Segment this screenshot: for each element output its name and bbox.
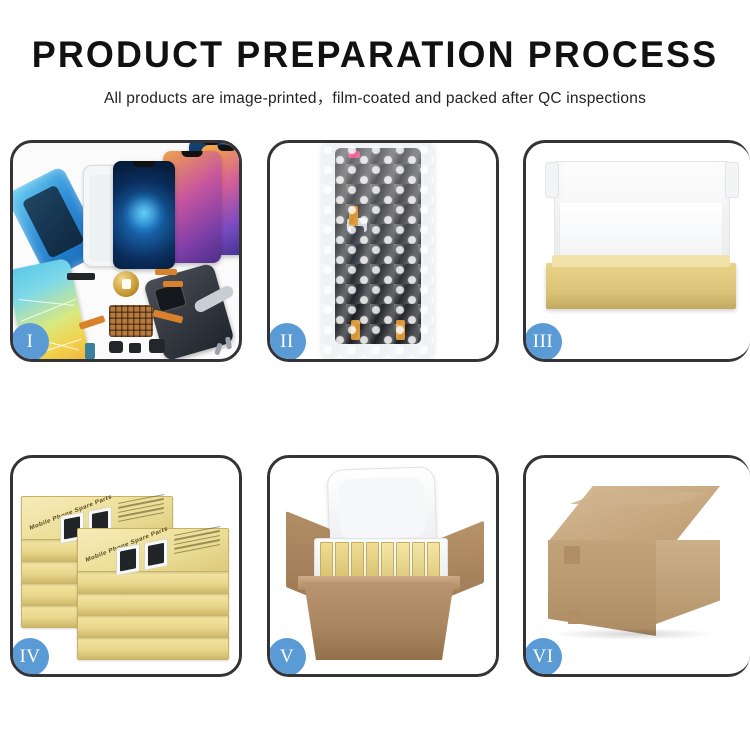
step-card-5[interactable]: V <box>267 455 499 677</box>
yellow-box-tray <box>546 263 736 309</box>
step-illustration-1 <box>13 143 239 359</box>
carton-shadow <box>552 628 716 640</box>
page-title: PRODUCT PREPARATION PROCESS <box>11 0 739 73</box>
step-badge-5: V <box>268 638 306 676</box>
box-spec-lines-back <box>118 494 164 529</box>
small-part-3 <box>129 343 141 353</box>
stacked-box-front-4 <box>77 614 229 638</box>
carton-tape-tab-2 <box>568 610 582 624</box>
small-part-1 <box>67 273 95 280</box>
box-thumbnail-4 <box>144 538 168 571</box>
step-card-6[interactable]: VI <box>523 455 750 677</box>
step-badge-2: II <box>268 323 306 361</box>
step-card-2[interactable]: II <box>267 140 499 362</box>
foam-sheet <box>560 203 722 259</box>
carton-tape-tab-1 <box>564 546 580 564</box>
speaker-coil-part <box>113 271 139 297</box>
stacked-box-front-3 <box>77 592 229 616</box>
step-badge-6: VI <box>524 638 562 676</box>
carton-body <box>304 582 454 660</box>
step-card-3[interactable]: III <box>523 140 750 362</box>
carton-side-face <box>656 540 720 624</box>
small-part-4 <box>149 339 165 353</box>
flex-cable-part-3 <box>155 269 177 275</box>
box-stack: Mobile Phone Spare Parts <box>21 472 237 672</box>
phone-screen-a <box>113 161 175 269</box>
bubble-wrap-pouch <box>322 144 434 358</box>
step-badge-3: III <box>524 323 562 361</box>
scene-carton-with-foam-box <box>270 458 496 674</box>
step-illustration-3 <box>526 143 750 359</box>
steps-row-top: I <box>0 140 750 362</box>
step-card-1[interactable]: I <box>10 140 242 362</box>
box-thumbnail-3 <box>116 544 140 577</box>
small-part-5 <box>85 343 95 359</box>
box-spec-lines-front <box>174 526 220 561</box>
scene-stacked-retail-boxes: Mobile Phone Spare Parts <box>13 458 239 674</box>
scene-bubble-wrapped-lcd <box>270 143 496 359</box>
step-illustration-6 <box>526 458 750 674</box>
stacked-box-front-top: Mobile Phone Spare Parts <box>77 528 229 572</box>
step-badge-1: I <box>11 323 49 361</box>
header: PRODUCT PREPARATION PROCESS All products… <box>0 0 750 108</box>
step-illustration-5 <box>270 458 496 674</box>
step-illustration-4: Mobile Phone Spare Parts <box>13 458 239 674</box>
scene-open-yellow-box <box>526 143 750 359</box>
step-badge-4: IV <box>11 638 49 676</box>
step-card-4[interactable]: Mobile Phone Spare Parts <box>10 455 242 677</box>
bubble-sheen <box>322 144 434 358</box>
small-part-2 <box>109 341 123 353</box>
page-subtitle: All products are image-printed，film-coat… <box>0 73 750 108</box>
steps-row-bottom: Mobile Phone Spare Parts <box>0 455 750 677</box>
step-illustration-2 <box>270 143 496 359</box>
product-preparation-infographic: PRODUCT PREPARATION PROCESS All products… <box>0 0 750 750</box>
scene-sealed-carton <box>526 458 750 674</box>
flex-cable-part-1 <box>79 315 106 330</box>
stacked-box-front-5 <box>77 636 229 660</box>
scene-phone-parts <box>13 143 239 359</box>
steps-grid: I <box>0 140 750 677</box>
flex-cable-part-4 <box>163 281 183 287</box>
chip-grid-part <box>109 305 153 337</box>
